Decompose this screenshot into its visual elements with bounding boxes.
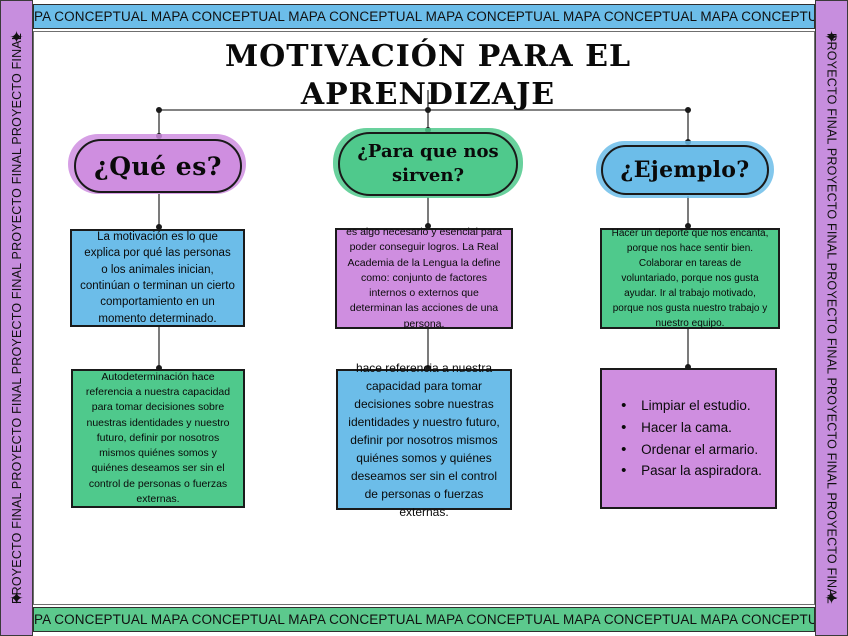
ejemplo-node-label: ¿Ejemplo? (621, 157, 750, 183)
purpose-box-capacidad-text: hace referencia a nuestra capacidad para… (346, 359, 502, 521)
example-task-list: Limpiar el estudio.Hacer la cama.Ordenar… (615, 395, 762, 482)
definition-box-motivacion-text: La motivación es lo que explica por qué … (80, 229, 235, 327)
definition-box-autodeterminacion[interactable]: Autodeterminación hace referencia a nues… (71, 369, 245, 508)
example-box-actividades[interactable]: Hacer un deporte que nos encanta, porque… (600, 228, 780, 329)
top-banner-strip: MAPA CONCEPTUAL MAPA CONCEPTUAL MAPA CON… (33, 4, 815, 29)
para-que-node-label: ¿Para que nos sirven? (340, 140, 516, 189)
list-item: Pasar la aspiradora. (615, 460, 762, 482)
right-decorative-band: ✦ PROYECTO FINAL PROYECTO FINAL PROYECTO… (815, 0, 848, 636)
concept-map-page: ✦ PROYECTO FINAL PROYECTO FINAL PROYECTO… (0, 0, 848, 636)
left-decorative-band: ✦ PROYECTO FINAL PROYECTO FINAL PROYECTO… (0, 0, 33, 636)
right-band-label: PROYECTO FINAL PROYECTO FINAL PROYECTO F… (825, 33, 839, 604)
star-icon: ✦ (824, 590, 838, 607)
left-band-label: PROYECTO FINAL PROYECTO FINAL PROYECTO F… (10, 33, 24, 604)
que-es-node[interactable]: ¿Qué es? (74, 139, 242, 193)
ejemplo-node[interactable]: ¿Ejemplo? (601, 145, 769, 195)
example-box-actividades-text: Hacer un deporte que nos encanta, porque… (610, 226, 770, 331)
purpose-box-esencial[interactable]: es algo necesario y esencial para poder … (335, 228, 513, 329)
definition-box-motivacion[interactable]: La motivación es lo que explica por qué … (70, 229, 245, 327)
purpose-box-capacidad[interactable]: hace referencia a nuestra capacidad para… (336, 369, 512, 510)
star-icon: ✦ (824, 29, 838, 46)
bottom-banner-label: MAPA CONCEPTUAL MAPA CONCEPTUAL MAPA CON… (33, 612, 815, 627)
que-es-node-label: ¿Qué es? (94, 152, 222, 181)
para-que-node[interactable]: ¿Para que nos sirven? (338, 132, 518, 196)
definition-box-autodeterminacion-text: Autodeterminación hace referencia a nues… (81, 370, 235, 507)
list-item: Limpiar el estudio. (615, 395, 762, 417)
purpose-box-esencial-text: es algo necesario y esencial para poder … (345, 225, 503, 332)
list-item: Hacer la cama. (615, 417, 762, 439)
example-box-tareas[interactable]: Limpiar el estudio.Hacer la cama.Ordenar… (600, 368, 777, 509)
star-icon: ✦ (9, 590, 23, 607)
bottom-banner-strip: MAPA CONCEPTUAL MAPA CONCEPTUAL MAPA CON… (33, 607, 815, 632)
top-banner-label: MAPA CONCEPTUAL MAPA CONCEPTUAL MAPA CON… (33, 9, 815, 24)
page-title: MOTIVACIÓN PARA EL APRENDIZAJE (178, 38, 678, 113)
list-item: Ordenar el armario. (615, 439, 762, 461)
